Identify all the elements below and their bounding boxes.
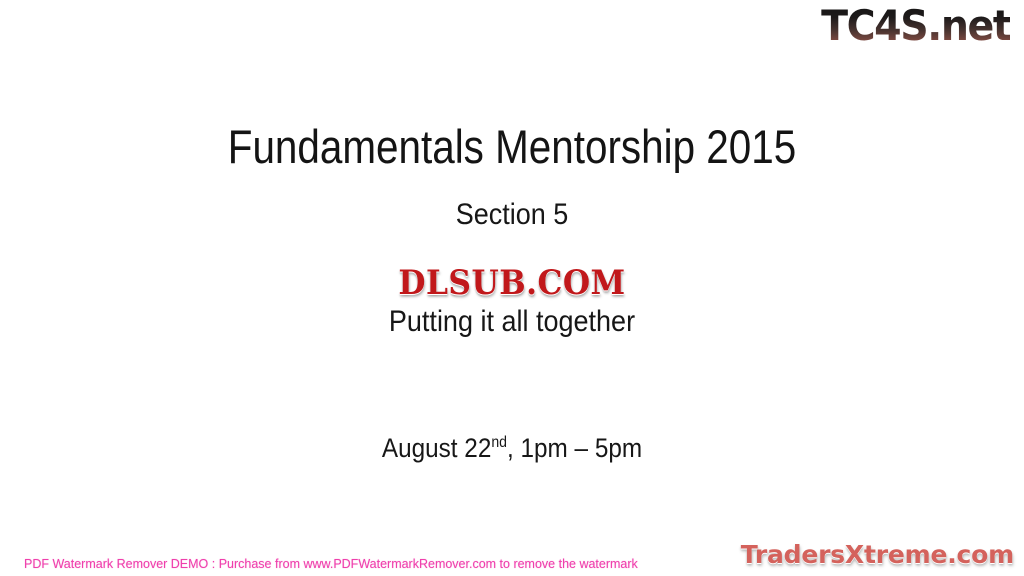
dlsub-watermark-logo: DLSUB.COM — [389, 263, 636, 303]
tradersxtreme-brand-logo: TradersXtreme.com — [741, 540, 1014, 570]
section-label: Section 5 — [51, 196, 973, 234]
tc4s-brand-logo: TC4S.net — [821, 2, 1010, 50]
slide-tagline: Putting it all together — [51, 303, 973, 341]
pdf-watermark-notice: PDF Watermark Remover DEMO : Purchase fr… — [24, 556, 638, 572]
event-date-ordinal-suffix: nd — [491, 434, 507, 451]
dlsub-watermark-logo-text: DLSUB.COM — [398, 263, 625, 303]
presentation-slide: TC4S.net Fundamentals Mentorship 2015 Se… — [0, 0, 1024, 576]
event-date-time-range: , 1pm – 5pm — [507, 433, 642, 463]
page-title: Fundamentals Mentorship 2015 — [72, 119, 953, 175]
event-date-month-day: August 22 — [382, 433, 491, 463]
event-date-line: August 22nd, 1pm – 5pm — [51, 430, 973, 466]
